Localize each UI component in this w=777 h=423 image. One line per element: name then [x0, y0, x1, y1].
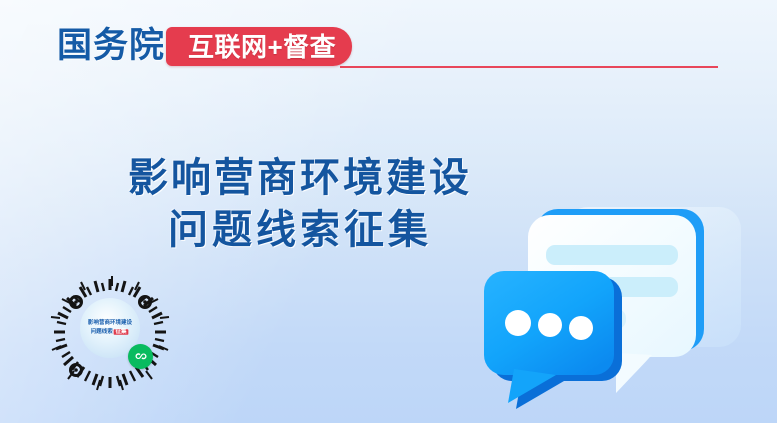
typing-dot-3	[569, 316, 593, 340]
poster-canvas: 国务院 互联网+督查 影响营商环境建设 问题线索征集	[0, 0, 777, 423]
miniprogram-icon[interactable]	[128, 344, 153, 369]
chat-bubbles-illustration	[470, 195, 770, 410]
gov-name: 国务院	[57, 27, 165, 65]
qr-caption-line-1: 影响营商环境建设	[88, 319, 132, 327]
qr-caption-line-2: 问题线索征集	[91, 328, 129, 336]
qr-caption-highlight: 征集	[114, 329, 129, 335]
back-bubble-line-1	[546, 245, 678, 265]
campaign-badge-label: 互联网+督查	[188, 34, 336, 60]
qr-center-caption: 影响营商环境建设 问题线索征集	[79, 314, 141, 342]
header-divider-line	[340, 66, 718, 68]
typing-dot-2	[538, 313, 562, 337]
typing-dot-1	[505, 310, 531, 336]
header: 国务院 互联网+督查	[0, 0, 777, 80]
campaign-badge: 互联网+督查	[166, 27, 352, 66]
miniprogram-qr-code[interactable]: 影响营商环境建设 问题线索征集	[48, 272, 173, 397]
qr-caption-line-2-text: 问题线索	[91, 329, 113, 335]
